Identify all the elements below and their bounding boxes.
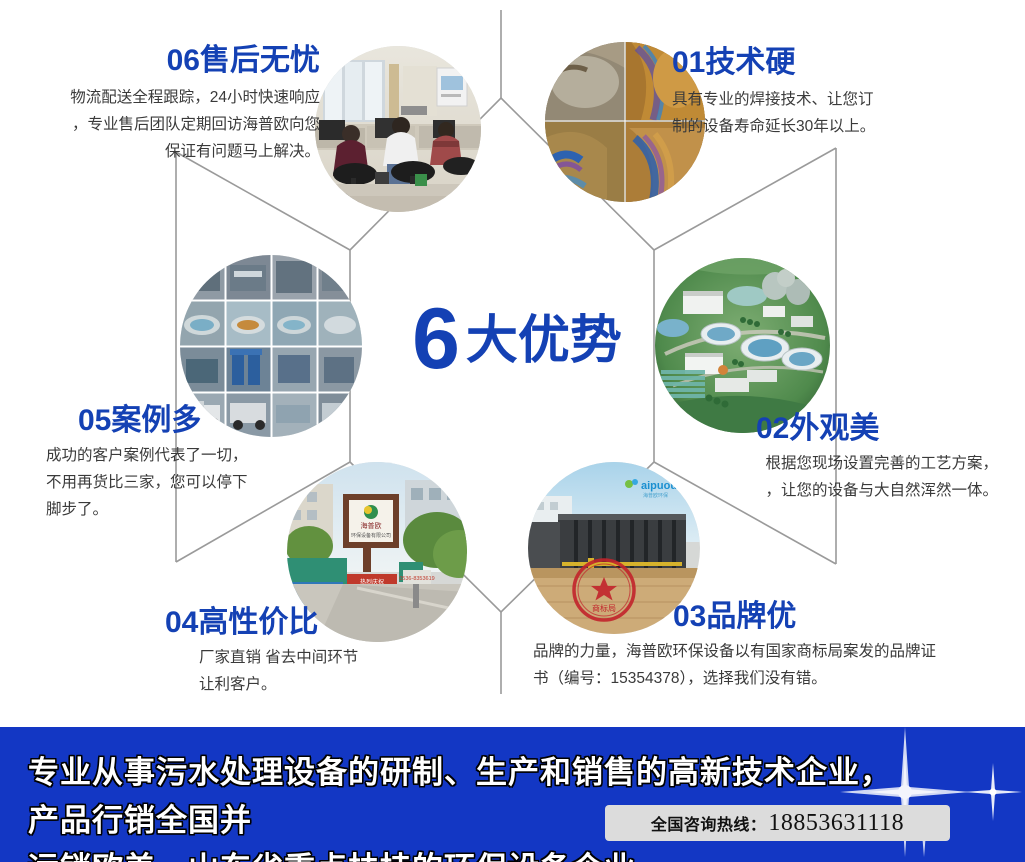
bottom-banner: 专业从事污水处理设备的研制、生产和销售的高新技术企业，产品行销全国并 远销欧美，…: [0, 727, 1025, 862]
feature-05-body: 成功的客户案例代表了一切， 不用再货比三家，您可以停下 脚步了。: [46, 442, 378, 523]
feature-01: 01技术硬 具有专业的焊接技术、让您订 制的设备寿命延长30年以上。: [672, 46, 992, 140]
center-label: 6 大优势: [372, 286, 662, 396]
hotline-label: 全国咨询热线：: [651, 811, 767, 835]
feature-01-heading: 01技术硬: [672, 46, 992, 80]
feature-04-line-1: 厂家直销 省去中间环节: [199, 644, 495, 671]
feature-05: 05案例多 成功的客户案例代表了一切， 不用再货比三家，您可以停下 脚步了。: [78, 404, 378, 523]
center-text: 大优势: [466, 315, 622, 367]
photo-circle-02-plant-aerial: [655, 258, 830, 433]
feature-03-line-2: 书（编号：15354378），选择我们没有错。: [533, 665, 1003, 692]
feature-06-line-1: 物流配送全程跟踪，24小时快速响应: [20, 84, 320, 111]
feature-01-body: 具有专业的焊接技术、让您订 制的设备寿命延长30年以上。: [672, 86, 992, 140]
infographic-page: 商标局 aipuou 海普欧环保: [0, 0, 1025, 862]
feature-06-body: 物流配送全程跟踪，24小时快速响应 ，专业售后团队定期回访海普欧向您 保证有问题…: [20, 84, 320, 165]
feature-02-line-1: 根据您现场设置完善的工艺方案，: [640, 450, 998, 477]
feature-02-heading: 02外观美: [756, 412, 998, 446]
photo-circle-06-office: [315, 46, 481, 212]
banner-line-2: 远销欧美，山东省重点扶持的环保设备企业。: [28, 845, 908, 862]
feature-03-heading: 03品牌优: [673, 600, 1003, 634]
feature-02: 02外观美 根据您现场设置完善的工艺方案， ，让您的设备与大自然浑然一体。: [640, 412, 998, 504]
feature-05-line-3: 脚步了。: [46, 496, 378, 523]
feature-06-line-2: ，专业售后团队定期回访海普欧向您: [20, 111, 320, 138]
feature-05-line-2: 不用再货比三家，您可以停下: [46, 469, 378, 496]
hotline-box[interactable]: 全国咨询热线： 18853631118: [605, 805, 950, 841]
feature-02-body: 根据您现场设置完善的工艺方案， ，让您的设备与大自然浑然一体。: [640, 450, 998, 504]
hotline-number: 18853631118: [768, 810, 904, 837]
feature-02-line-2: ，让您的设备与大自然浑然一体。: [640, 477, 998, 504]
center-number: 6: [412, 296, 458, 382]
feature-04-heading: 04高性价比: [165, 606, 495, 640]
feature-05-line-1: 成功的客户案例代表了一切，: [46, 442, 378, 469]
feature-03: 03品牌优 品牌的力量，海普欧环保设备以有国家商标局案发的品牌证 书（编号：15…: [533, 600, 1003, 692]
feature-01-line-1: 具有专业的焊接技术、让您订: [672, 86, 992, 113]
feature-06-heading: 06售后无忧: [20, 44, 320, 78]
feature-06: 06售后无忧 物流配送全程跟踪，24小时快速响应 ，专业售后团队定期回访海普欧向…: [20, 44, 320, 165]
feature-04-line-2: 让利客户。: [199, 671, 495, 698]
feature-03-line-1: 品牌的力量，海普欧环保设备以有国家商标局案发的品牌证: [533, 638, 1003, 665]
feature-03-body: 品牌的力量，海普欧环保设备以有国家商标局案发的品牌证 书（编号：15354378…: [533, 638, 1003, 692]
feature-06-line-3: 保证有问题马上解决。: [20, 138, 320, 165]
feature-04-body: 厂家直销 省去中间环节 让利客户。: [199, 644, 495, 698]
svg-text:环保设备有限公司: 环保设备有限公司: [351, 532, 391, 539]
feature-01-line-2: 制的设备寿命延长30年以上。: [672, 113, 992, 140]
sparkle-star-small: [958, 757, 1025, 827]
feature-04: 04高性价比 厂家直销 省去中间环节 让利客户。: [165, 606, 495, 698]
feature-05-heading: 05案例多: [78, 404, 378, 438]
svg-text:0536-8353619: 0536-8353619: [399, 576, 434, 582]
